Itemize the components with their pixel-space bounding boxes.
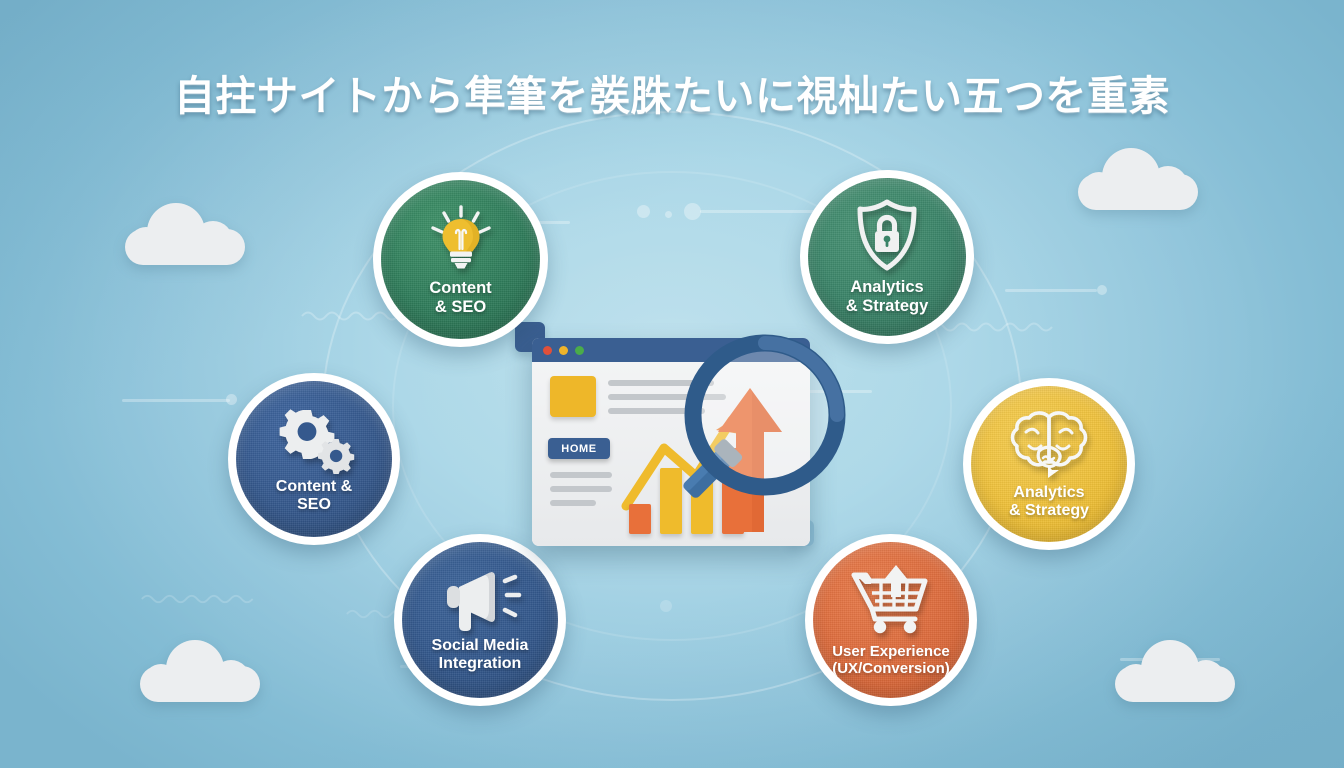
shopping-cart-up-arrow-icon — [848, 563, 934, 639]
browser-window-mockup[interactable]: HOME — [532, 338, 810, 546]
brain-icon — [1007, 408, 1091, 480]
badge-label: Social Media Integration — [432, 637, 529, 673]
decor-wave-line — [140, 590, 260, 608]
page-text-line — [550, 472, 612, 478]
badge-content-seo-top[interactable]: Content & SEO — [373, 172, 548, 347]
megaphone-icon — [437, 567, 523, 633]
page-text-line — [550, 500, 596, 506]
chart-bar — [691, 476, 713, 534]
decor-dot — [1097, 285, 1107, 295]
traffic-light-minimize-icon[interactable] — [559, 346, 568, 355]
page-text-line — [608, 394, 726, 400]
badge-content-seo-left[interactable]: Content & SEO — [228, 373, 400, 545]
page-title: 自拄サイトから隼筆を彂䏭たいに視杣たい五つを重素 — [0, 62, 1344, 122]
growth-arrow-icon — [714, 384, 788, 534]
badge-analytics-strategy-top[interactable]: Analytics & Strategy — [800, 170, 974, 344]
cloud-shape — [1115, 640, 1235, 702]
traffic-light-maximize-icon[interactable] — [575, 346, 584, 355]
badge-label: Analytics & Strategy — [1009, 484, 1089, 520]
decor-connector-line — [122, 399, 230, 402]
decor-connector-line — [700, 210, 820, 213]
decor-dot — [637, 205, 650, 218]
decor-wave-line — [930, 318, 1060, 336]
page-text-line — [608, 380, 714, 386]
decor-dot — [665, 211, 672, 218]
badge-social-media-integration[interactable]: Social Media Integration — [394, 534, 566, 706]
chart-bar — [629, 504, 651, 534]
badge-label: Content & SEO — [276, 478, 352, 514]
home-button[interactable]: HOME — [548, 438, 610, 459]
page-text-line — [550, 486, 612, 492]
lightbulb-icon — [425, 203, 497, 275]
cloud-shape — [1078, 148, 1198, 210]
badge-analytics-strategy-right[interactable]: Analytics & Strategy — [963, 378, 1135, 550]
shield-lock-icon — [851, 198, 923, 274]
infographic-canvas: 自拄サイトから隼筆を彂䏭たいに視杣たい五つを重素 — [0, 0, 1344, 768]
decor-dot — [226, 394, 237, 405]
traffic-light-close-icon[interactable] — [543, 346, 552, 355]
decor-connector-line — [1005, 289, 1097, 292]
decor-dot — [660, 600, 672, 612]
gears-icon — [272, 404, 356, 474]
badge-label: User Experience (UX/Conversion) — [832, 643, 950, 677]
chart-bar — [660, 468, 682, 534]
badge-label: Analytics & Strategy — [846, 278, 929, 316]
badge-user-experience[interactable]: User Experience (UX/Conversion) — [805, 534, 977, 706]
cloud-shape — [140, 640, 260, 702]
cloud-shape — [125, 203, 245, 265]
page-image-placeholder — [550, 376, 596, 417]
decor-dot — [684, 203, 701, 220]
badge-label: Content & SEO — [429, 279, 491, 317]
browser-title-bar — [532, 338, 810, 362]
